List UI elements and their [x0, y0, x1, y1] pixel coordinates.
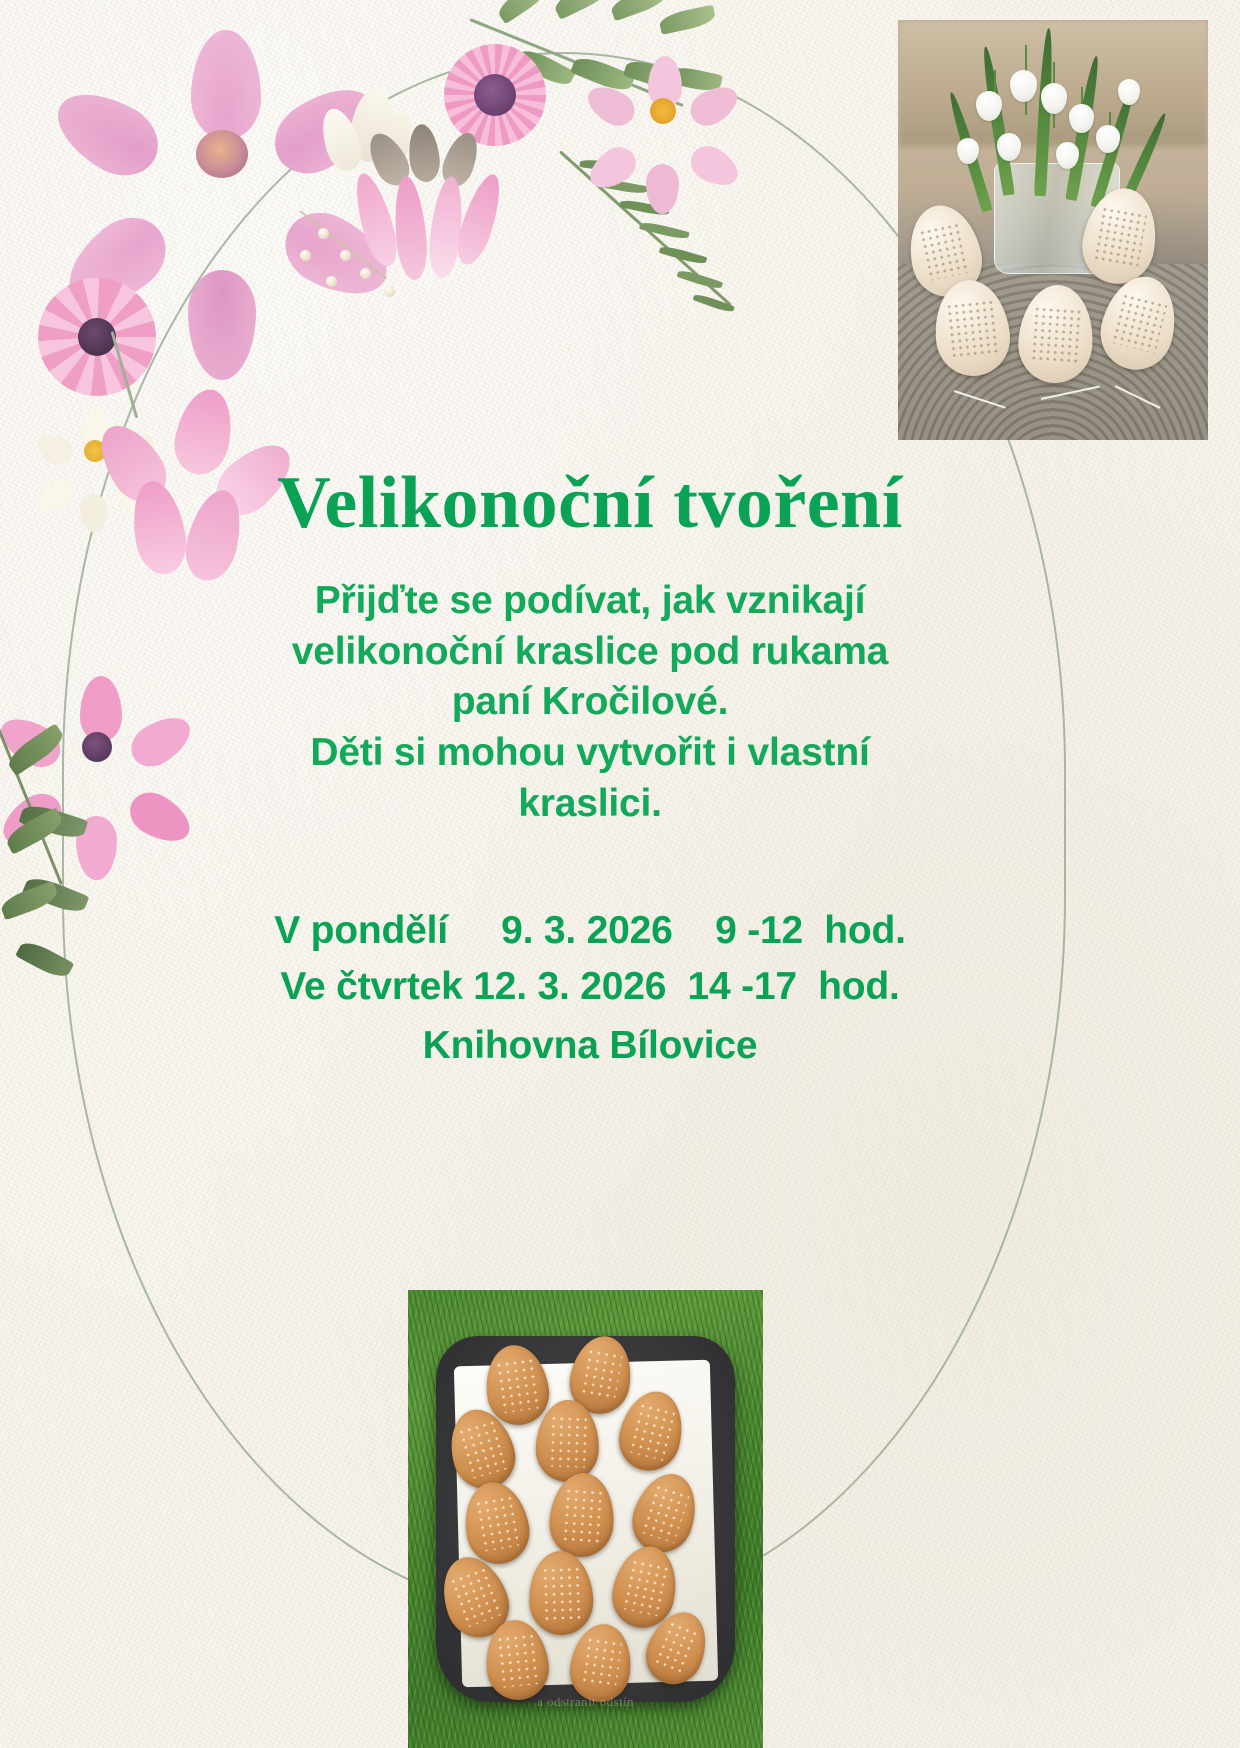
- photo-watermark: a odstranit odstín: [408, 1694, 763, 1710]
- schedule-row-monday: V pondělí 9. 3. 2026 9 -12 hod.: [150, 903, 1030, 958]
- foliage-leaf: [515, 45, 576, 90]
- pink-gerbera-flower: [430, 30, 560, 160]
- rosemary-stem: [559, 150, 732, 306]
- poster-text-content: Velikonoční tvoření Přijďte se podívat, …: [150, 466, 1030, 1074]
- cream-blossom-flower: [52, 408, 138, 494]
- olive-leaf: [3, 807, 66, 855]
- venue-name: Knihovna Bílovice: [150, 1018, 1030, 1073]
- berry: [318, 228, 329, 239]
- foliage-leaf: [666, 64, 723, 94]
- description-line: paní Kročilové.: [150, 677, 1030, 728]
- foliage-stem: [469, 18, 683, 107]
- berry: [340, 250, 351, 261]
- berry: [384, 286, 395, 297]
- foliage-leaf: [494, 0, 552, 24]
- snowdrops-eggs-photo: [898, 20, 1208, 440]
- snowdrop-bloom: [1069, 104, 1094, 133]
- rosemary-needle: [619, 198, 670, 217]
- olive-leaf: [0, 881, 60, 921]
- berry: [326, 276, 337, 287]
- snowdrop-bloom: [1041, 83, 1067, 114]
- olive-leaf: [4, 723, 68, 776]
- pink-cosmos-flower-lower: [26, 676, 166, 816]
- pink-daisy-flower: [28, 268, 168, 408]
- description-line: velikonoční kraslice pod rukama: [150, 627, 1030, 678]
- description-line: Přijďte se podívat, jak vznikají: [150, 576, 1030, 627]
- flower-stem: [111, 331, 139, 418]
- decorated-eggs-photo: a odstranit odstín: [408, 1290, 763, 1748]
- berry-sprig-stem: [299, 210, 387, 279]
- rosemary-needle: [659, 244, 708, 266]
- pink-cosmos-flower: [96, 30, 346, 280]
- foliage-leaf: [623, 56, 686, 94]
- snowdrop-bloom: [957, 138, 979, 164]
- olive-leaf: [22, 873, 90, 917]
- rosemary-needle: [639, 220, 690, 241]
- rosemary-needle: [599, 178, 648, 195]
- foliage-leaf: [609, 0, 670, 21]
- olive-leaf: [18, 801, 88, 843]
- schedule-row-thursday: Ve čtvrtek 12. 3. 2026 14 -17 hod.: [150, 959, 1030, 1014]
- rosemary-needle: [579, 158, 626, 173]
- rosemary-needle: [677, 268, 724, 291]
- berry: [360, 268, 371, 279]
- easter-workshop-poster: Velikonoční tvoření Přijďte se podívat, …: [0, 0, 1240, 1748]
- foliage-leaf: [551, 0, 614, 20]
- olive-leaf: [15, 937, 74, 982]
- foliage-leaf: [658, 5, 717, 35]
- pink-protea-flower: [358, 128, 498, 288]
- foliage-leaf: [570, 53, 635, 96]
- light-pink-cosmos-flower: [608, 56, 718, 164]
- olive-branch-stem: [0, 717, 63, 885]
- page-title: Velikonoční tvoření: [150, 466, 1030, 540]
- snowdrop-bloom: [997, 133, 1021, 161]
- description-line: kraslici.: [150, 779, 1030, 830]
- description-line: Děti si mohou vytvořit i vlastní: [150, 728, 1030, 779]
- rosemary-needle: [693, 292, 735, 314]
- description-paragraph: Přijďte se podívat, jak vznikají velikon…: [150, 576, 1030, 829]
- berry: [300, 250, 311, 261]
- schedule-block: V pondělí 9. 3. 2026 9 -12 hod. Ve čtvrt…: [150, 903, 1030, 1073]
- cream-bud-flower: [330, 88, 404, 188]
